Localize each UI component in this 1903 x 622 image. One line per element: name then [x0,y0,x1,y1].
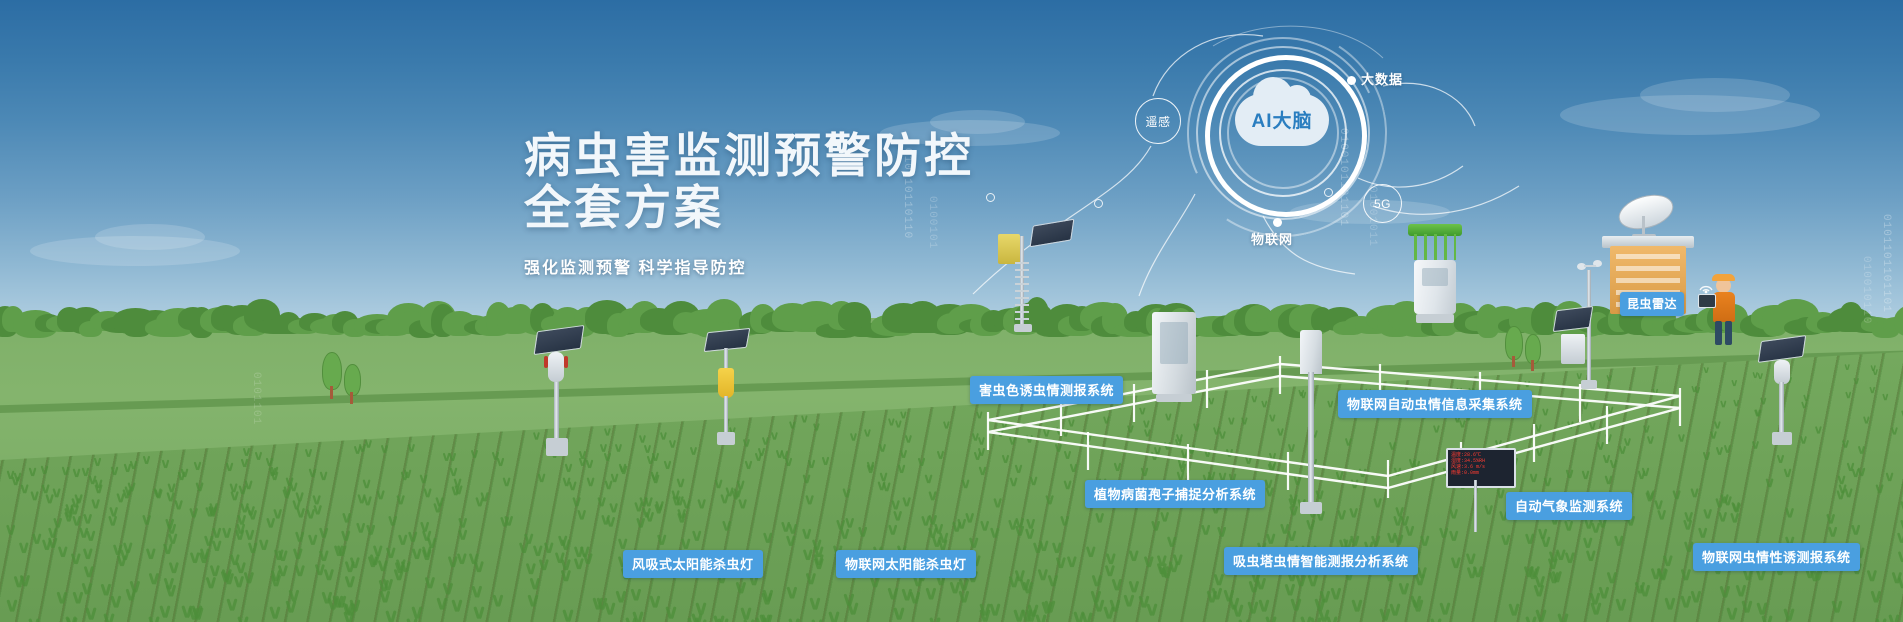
device-iot-solar-insect-lamp[interactable] [700,326,756,446]
led-board-pole [1474,480,1477,532]
tree [1523,334,1541,372]
pest-monitoring-banner: 010010110110 0100101 0100101101101 01001… [0,0,1903,622]
solar-panel-icon [1758,335,1807,363]
node-bigdata-dot [1347,76,1356,85]
ai-brain-label: AI大脑 [1235,106,1329,133]
weather-enclosure [1561,334,1585,364]
pheromone-trap-body [1774,360,1790,384]
device-plant-spore-capture-analysis[interactable] [1148,308,1206,428]
lamp-collector [718,368,734,398]
weather-base [1581,380,1597,389]
label-auto-weather-monitoring-system[interactable]: 自动气象监测系统 [1506,492,1632,520]
cloud-shape [1640,78,1790,112]
label-iot-auto-pest-info-collection[interactable]: 物联网自动虫情信息采集系统 [1338,390,1532,418]
binary-decoration: 0101101 [250,372,262,425]
device-iot-auto-pest-info-collection[interactable] [1400,224,1470,342]
collector-panel [1422,268,1448,286]
node-iot-label: 物联网 [1251,229,1293,248]
node-endpoint-dot [1094,199,1103,208]
device-suction-tower-smart-forecast[interactable] [1290,330,1332,520]
suction-tower-base [1300,502,1322,514]
binary-decoration: 0101101101101 [1880,214,1892,313]
tree [1503,326,1523,368]
label-wind-suction-solar-insect-lamp[interactable]: 风吸式太阳能杀虫灯 [623,550,763,578]
label-plant-spore-capture-analysis[interactable]: 植物病菌孢子捕捉分析系统 [1085,480,1265,508]
lamp-pole [554,382,559,440]
led-line: 雨量:0.0mm [1451,470,1511,476]
collector-fins [1414,234,1456,260]
lamp-pole-upper [724,348,728,370]
lamp-body [548,352,564,382]
lamp-base [546,438,568,456]
ai-hub: AI大脑 遥感 5G 大数据 物联网 [1083,36,1563,286]
farmer-leg [1715,321,1722,345]
ladder [1015,262,1029,324]
label-suction-tower-smart-forecast[interactable]: 吸虫塔虫情智能测报分析系统 [1224,547,1418,575]
label-iot-solar-insect-lamp[interactable]: 物联网太阳能杀虫灯 [836,550,976,578]
device-color-lure-pest-forecast-system[interactable] [990,222,1070,332]
trap-base [1772,432,1792,445]
led-display-board: 温度:28.6℃ 湿度:34.5%RH 风速:3.6 m/s 雨量:0.0mm [1446,448,1516,488]
lure-trap-body [998,234,1020,264]
device-iot-pheromone-pest-forecast[interactable] [1752,336,1812,448]
lamp-indicator [564,356,568,368]
node-endpoint-dot [1324,188,1333,197]
mast-base [1014,324,1032,332]
wifi-icon [1696,276,1718,294]
suction-tower-column [1308,372,1314,506]
tree [320,352,342,400]
farmer-figure [1698,272,1750,348]
label-color-lure-pest-forecast-system[interactable]: 害虫色诱虫情测报系统 [970,376,1123,404]
collector-base [1416,314,1454,323]
lamp-base [717,432,735,445]
node-remote-sensing-label: 遥感 [1145,113,1170,130]
device-wind-suction-solar-insect-lamp[interactable] [528,326,588,456]
binary-decoration: 010010110 [1860,256,1872,324]
node-5g[interactable]: 5G [1363,184,1402,223]
lamp-indicator [544,356,548,368]
node-endpoint-dot [986,193,995,202]
node-bigdata-label: 大数据 [1361,69,1403,88]
lamp-pole [724,396,728,434]
solar-panel-icon [1030,219,1075,248]
label-iot-pheromone-pest-forecast[interactable]: 物联网虫情性诱测报系统 [1693,543,1860,571]
cloud-shape [95,224,205,250]
suction-tower-head [1300,330,1322,374]
trap-pole [1779,382,1784,434]
node-5g-label: 5G [1374,197,1391,211]
tree [342,364,362,404]
node-remote-sensing[interactable]: 遥感 [1135,98,1181,144]
cabinet-panel [1160,322,1188,364]
solar-panel-icon [534,325,585,355]
tablet-icon [1698,294,1716,308]
cabinet-base [1156,394,1192,402]
label-insect-radar[interactable]: 昆虫雷达 [1620,292,1684,316]
node-iot-dot [1273,218,1282,227]
farmer-leg [1725,321,1732,345]
